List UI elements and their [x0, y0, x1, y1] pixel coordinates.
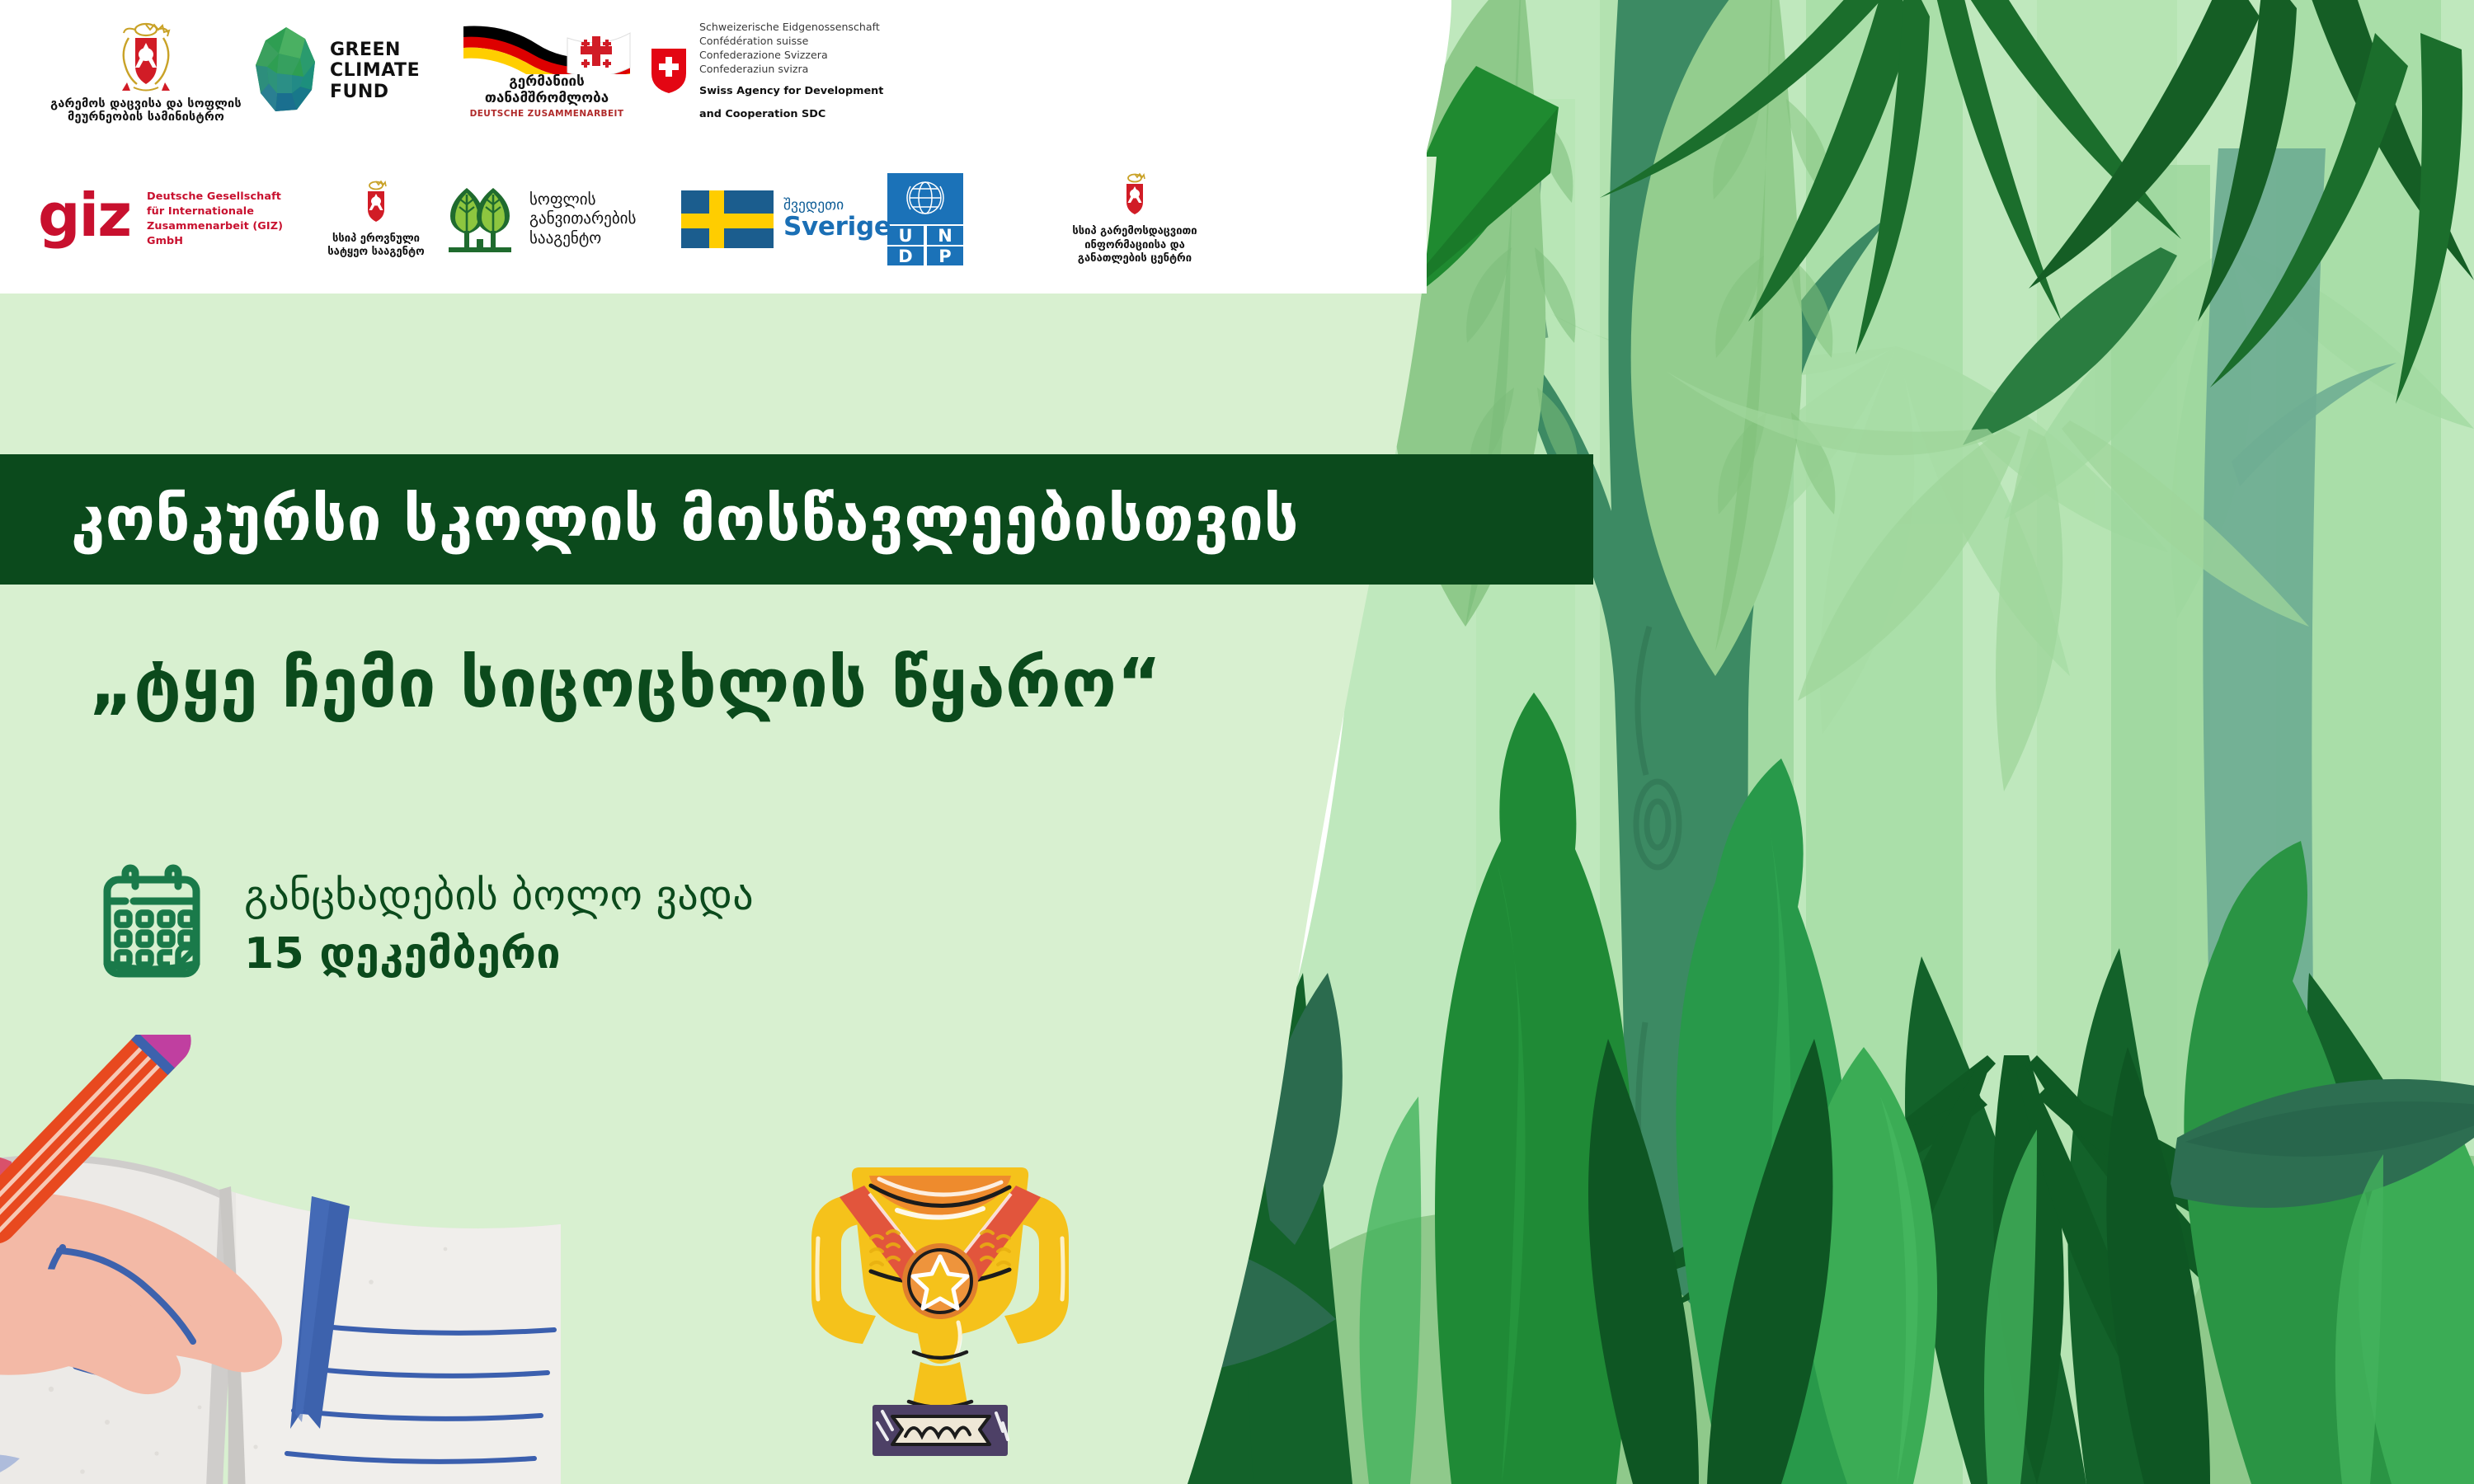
- svg-text:D: D: [898, 247, 912, 265]
- hand-writing-in-notebook-illustration: [0, 1035, 561, 1484]
- deadline-date: 15 დეკემბერი: [244, 929, 754, 979]
- giz-text: Deutsche Gesellschaft für Internationale…: [147, 190, 310, 250]
- logo-ministry-of-environment-georgia: გარემოს დაცვისა და სოფლის მეურნეობის სამ…: [38, 18, 254, 124]
- germany-georgia-flag-ribbon-icon: [460, 23, 633, 74]
- undp-logo-icon: U N D P: [887, 173, 963, 265]
- logo-environmental-info-education-centre: სსიპ გარემოსდაცვითი ინფორმაციისა და განა…: [1036, 172, 1234, 266]
- giz-wordmark-icon: giz: [38, 188, 137, 251]
- svg-text:N: N: [938, 226, 952, 246]
- subtitle: „ტყე ჩემი სიცოცხლის წყარო“: [89, 645, 1162, 723]
- logo-caption-line2: მეურნეობის სამინისტრო: [68, 110, 224, 124]
- svg-text:U: U: [898, 226, 912, 246]
- poster-root: გარემოს დაცვისა და სოფლის მეურნეობის სამ…: [0, 0, 2474, 1484]
- logo-undp: U N D P: [887, 173, 1036, 265]
- logo-row-top: გარემოს დაცვისა და სოფლის მეურნეობის სამ…: [38, 5, 897, 137]
- headline-banner: კონკურსი სკოლის მოსწავლეებისთვის: [0, 454, 1593, 585]
- german-coop-caption: გერმანიის თანამშრომლობა: [485, 74, 609, 106]
- georgia-coat-of-arms-small-icon: [1116, 172, 1154, 220]
- svg-text:P: P: [938, 247, 951, 265]
- sverige-text: შვედეთი Sverige: [783, 198, 891, 241]
- logo-sverige: შვედეთი Sverige: [681, 190, 887, 248]
- georgia-coat-of-arms-small-icon: [357, 180, 395, 228]
- logo-caption-line1: გარემოს დაცვისა და სოფლის: [50, 97, 242, 110]
- logo-national-forestry-agency: სსიპ ეროვნული სატყეო სააგენტო: [310, 180, 442, 260]
- rda-text: სოფლის განვითარების სააგენტო: [529, 190, 636, 248]
- forestry-agency-caption: სსიპ ეროვნული სატყეო სააგენტო: [327, 232, 425, 260]
- logo-rural-development-agency: სოფლის განვითარების სააგენტო: [442, 185, 681, 254]
- neic-caption: სსიპ გარემოსდაცვითი ინფორმაციისა და განა…: [1072, 225, 1197, 266]
- calendar-icon: [97, 862, 206, 989]
- page-title: კონკურსი სკოლის მოსწავლეებისთვის: [71, 484, 1299, 555]
- gcf-wordmark: GREEN CLIMATE FUND: [330, 40, 420, 103]
- sweden-flag-icon: [681, 190, 783, 248]
- deadline-text: განცხადების ბოლო ვადა 15 დეკემბერი: [244, 871, 754, 979]
- logo-green-climate-fund: GREEN CLIMATE FUND: [254, 26, 444, 116]
- logo-giz: giz Deutsche Gesellschaft für Internatio…: [38, 188, 310, 251]
- logo-row-bottom: giz Deutsche Gesellschaft für Internatio…: [38, 162, 1234, 277]
- swiss-shield-icon: [650, 47, 699, 95]
- german-coop-subcaption: DEUTSCHE ZUSAMMENARBEIT: [470, 109, 624, 119]
- logo-german-cooperation: გერმანიის თანამშრომლობა DEUTSCHE ZUSAMME…: [444, 23, 650, 118]
- svg-text:giz: giz: [38, 188, 130, 250]
- trees-house-logo-icon: [442, 185, 518, 254]
- gcf-polygon-logo-icon: [254, 26, 318, 116]
- logo-swiss-agency-sdc: Schweizerische Eidgenossenschaft Confédé…: [650, 20, 897, 121]
- gold-trophy-with-star-medal-illustration: [767, 1146, 1113, 1479]
- deadline-block: განცხადების ბოლო ვადა 15 დეკემბერი: [97, 862, 754, 989]
- deadline-label: განცხადების ბოლო ვადა: [244, 871, 754, 919]
- swiss-sdc-text: Schweizerische Eidgenossenschaft Confédé…: [699, 20, 883, 121]
- partner-logo-band: გარემოს დაცვისა და სოფლის მეურნეობის სამ…: [0, 0, 1427, 294]
- georgia-coat-of-arms-icon: [111, 18, 181, 97]
